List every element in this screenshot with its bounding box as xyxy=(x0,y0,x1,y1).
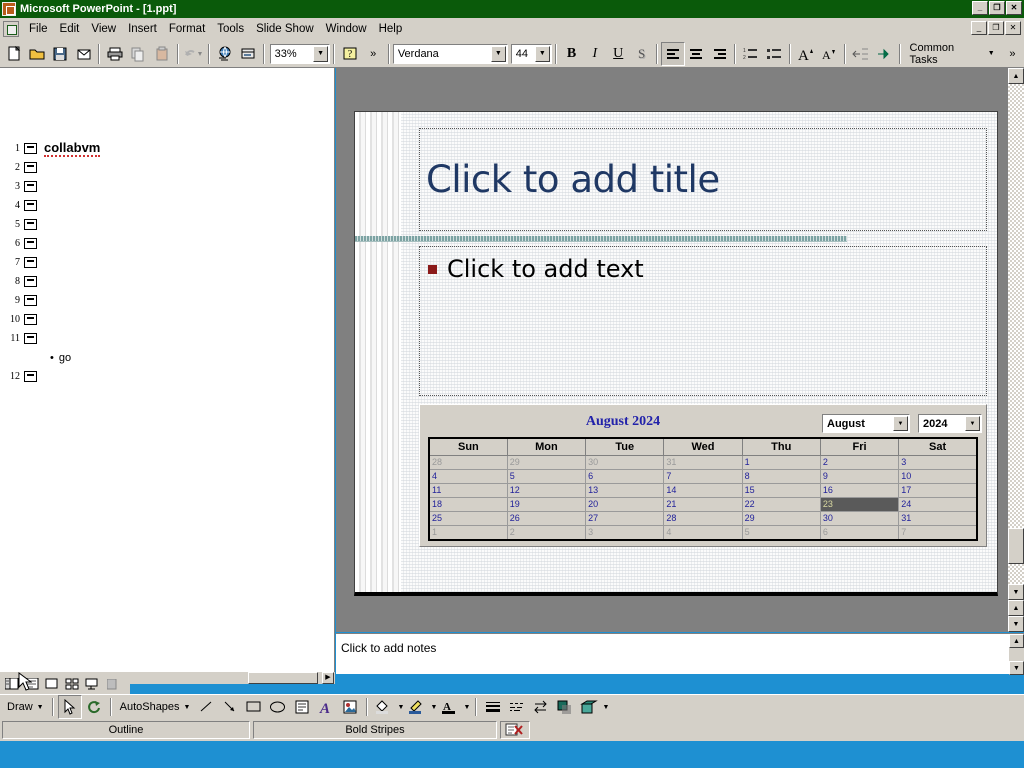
notes-vertical-scrollbar[interactable]: ▲ ▼ xyxy=(1009,634,1024,675)
window-controls: _ ❐ ✕ xyxy=(972,1,1022,15)
calendar-day-cell[interactable]: 24 xyxy=(899,497,977,511)
day-header-mon: Mon xyxy=(507,438,585,455)
slide-thumbnail-icon[interactable] xyxy=(24,219,37,230)
calendar-week-row: 18192021222324 xyxy=(429,497,977,511)
slide-number: 8 xyxy=(0,276,20,287)
promote-icon[interactable] xyxy=(849,42,872,66)
arrow-style-icon[interactable] xyxy=(529,695,553,719)
toolbar-separator xyxy=(899,44,901,64)
outline-slide-row[interactable]: 7 xyxy=(0,254,37,271)
outline-slide-row[interactable]: 5 xyxy=(0,216,37,233)
calendar-day-cell[interactable]: 18 xyxy=(429,497,507,511)
arrow-icon[interactable] xyxy=(218,695,242,719)
toolbar-separator xyxy=(110,698,112,716)
common-tasks-label: Common Tasks xyxy=(910,42,983,66)
line-style-icon[interactable] xyxy=(481,695,505,719)
close-button[interactable]: ✕ xyxy=(1006,1,1022,15)
slide-view-button[interactable] xyxy=(42,676,61,693)
slide-show-view-button[interactable] xyxy=(82,676,101,693)
notes-pane[interactable]: Click to add notes ▲ ▼ xyxy=(336,633,1024,674)
document-window-controls: _ ❐ ✕ xyxy=(971,21,1021,35)
slide-thumbnail-icon[interactable] xyxy=(24,314,37,325)
email-icon[interactable] xyxy=(72,42,95,66)
slide-vertical-scrollbar[interactable]: ▲ ▼ ▲ ▼ xyxy=(1008,68,1024,632)
calendar-day-cell[interactable]: 3 xyxy=(899,455,977,469)
window-title: Microsoft PowerPoint - [1.ppt] xyxy=(20,3,176,15)
3d-icon[interactable] xyxy=(577,695,601,719)
slide-number: 9 xyxy=(0,295,20,306)
oval-icon[interactable] xyxy=(266,695,290,719)
calendar-week-row: 25262728293031 xyxy=(429,511,977,525)
chevron-down-icon[interactable]: ▼ xyxy=(601,695,610,719)
slide-number: 7 xyxy=(0,257,20,268)
chevron-down-icon[interactable]: ▼ xyxy=(313,46,328,62)
calendar-day-cell-selected[interactable]: 23 xyxy=(820,497,898,511)
line-color-icon[interactable] xyxy=(405,695,429,719)
calendar-day-cell[interactable]: 28 xyxy=(429,455,507,469)
calendar-month-value: August xyxy=(827,418,865,430)
toolbar-separator xyxy=(263,44,265,64)
title-bar: Microsoft PowerPoint - [1.ppt] _ ❐ ✕ xyxy=(0,0,1024,18)
paste-icon[interactable] xyxy=(150,42,173,66)
slide-thumbnail-icon[interactable] xyxy=(24,143,37,154)
menu-slide-show[interactable]: Slide Show xyxy=(250,21,320,37)
previous-slide-button[interactable]: ▲ xyxy=(1008,600,1024,616)
calendar-header-row: Sun Mon Tue Wed Thu Fri Sat xyxy=(429,438,977,455)
calendar-day-cell[interactable]: 31 xyxy=(664,455,742,469)
calendar-day-cell[interactable]: 13 xyxy=(586,483,664,497)
menu-help[interactable]: Help xyxy=(373,21,409,37)
outline-slide-row[interactable]: 10 xyxy=(0,311,37,328)
notes-placeholder-text: Click to add notes xyxy=(341,641,436,655)
slide-thumbnail-icon[interactable] xyxy=(24,333,37,344)
calendar-day-cell[interactable]: 1 xyxy=(429,525,507,540)
calendar-day-cell[interactable]: 27 xyxy=(586,511,664,525)
scroll-up-button[interactable]: ▲ xyxy=(1009,634,1024,648)
powerpoint-window: Microsoft PowerPoint - [1.ppt] _ ❐ ✕ Fil… xyxy=(0,0,1024,768)
fill-color-icon[interactable] xyxy=(372,695,396,719)
wordart-icon[interactable]: A xyxy=(314,695,338,719)
free-rotate-icon[interactable] xyxy=(82,695,106,719)
align-left-icon[interactable] xyxy=(661,42,684,66)
font-name-value: Verdana xyxy=(398,48,439,60)
menu-bar: File Edit View Insert Format Tools Slide… xyxy=(0,18,1024,40)
outline-slide-row[interactable]: 4 xyxy=(0,197,37,214)
zoom-combo[interactable]: 33% ▼ xyxy=(270,44,331,64)
calendar-day-cell[interactable]: 6 xyxy=(820,525,898,540)
calendar-day-cell[interactable]: 28 xyxy=(664,511,742,525)
new-document-icon[interactable] xyxy=(2,42,25,66)
outline-slide-row[interactable]: 6 xyxy=(0,235,37,252)
design-divider-line xyxy=(355,236,847,242)
calendar-body: 2829303112345678910111213141516171819202… xyxy=(429,455,977,540)
toolbar-separator xyxy=(555,44,557,64)
scroll-up-button[interactable]: ▲ xyxy=(1008,68,1024,84)
outline-bullet-text[interactable]: go xyxy=(59,352,71,364)
chevron-down-icon[interactable]: ▼ xyxy=(462,695,471,719)
slide-number: 10 xyxy=(0,314,20,325)
zoom-value: 33% xyxy=(275,48,297,60)
menu-window[interactable]: Window xyxy=(320,21,373,37)
calendar-day-cell[interactable]: 10 xyxy=(899,469,977,483)
align-right-icon[interactable] xyxy=(708,42,731,66)
svg-text:A: A xyxy=(319,701,330,715)
toolbar-separator xyxy=(208,44,210,64)
calendar-day-cell[interactable]: 8 xyxy=(742,469,820,483)
open-folder-icon[interactable] xyxy=(25,42,48,66)
body-placeholder[interactable]: Click to add text xyxy=(419,246,987,396)
calendar-day-cell[interactable]: 20 xyxy=(586,497,664,511)
toolbar-separator xyxy=(333,44,335,64)
calendar-day-cell[interactable]: 9 xyxy=(820,469,898,483)
text-box-icon[interactable] xyxy=(290,695,314,719)
line-icon[interactable] xyxy=(194,695,218,719)
day-header-tue: Tue xyxy=(586,438,664,455)
calendar-header: August 2024 August ▼ 2024 ▼ xyxy=(428,411,978,437)
chevron-down-icon[interactable]: ▼ xyxy=(988,50,995,57)
calendar-day-cell[interactable]: 30 xyxy=(820,511,898,525)
calendar-day-cell[interactable]: 1 xyxy=(742,455,820,469)
outline-slide-row[interactable]: 9 xyxy=(0,292,37,309)
design-stripes-decoration xyxy=(355,112,401,592)
drawing-toolbar: Draw ▼ AutoShapes ▼ A xyxy=(0,694,1024,719)
calendar-grid[interactable]: Sun Mon Tue Wed Thu Fri Sat 282930311234… xyxy=(428,437,978,541)
draw-menu-button[interactable]: Draw ▼ xyxy=(3,701,48,713)
title-placeholder-text: Click to add title xyxy=(426,158,720,201)
slide-title-text[interactable]: collabvm xyxy=(44,140,100,157)
document-icon[interactable] xyxy=(3,21,19,37)
toolbar-separator xyxy=(177,44,179,64)
formatting-overflow-button[interactable]: » xyxy=(1001,42,1024,66)
mouse-cursor xyxy=(18,672,32,692)
slide-edit-area[interactable]: Click to add title Click to add text Aug… xyxy=(336,68,1008,632)
svg-text:1: 1 xyxy=(743,48,746,54)
menu-edit[interactable]: Edit xyxy=(54,21,86,37)
slide-thumbnail-icon[interactable] xyxy=(24,371,37,382)
calendar-day-cell[interactable]: 19 xyxy=(507,497,585,511)
outline-slide-row[interactable]: 2 xyxy=(0,159,37,176)
shadow-icon[interactable] xyxy=(553,695,577,719)
toolbar-separator xyxy=(98,44,100,64)
outline-slide-row[interactable]: 3 xyxy=(0,178,37,195)
common-tasks-button[interactable]: Common Tasks ▼ xyxy=(904,43,1001,65)
chevron-down-icon[interactable]: ▼ xyxy=(535,46,550,62)
outline-slide-row[interactable]: 1 collabvm xyxy=(0,140,100,157)
calendar-control[interactable]: August 2024 August ▼ 2024 ▼ Sun Mon xyxy=(419,404,987,547)
chevron-down-icon[interactable]: ▼ xyxy=(37,704,44,711)
svg-text:A: A xyxy=(822,48,831,62)
calendar-day-cell[interactable]: 30 xyxy=(586,455,664,469)
next-slide-button[interactable]: ▼ xyxy=(1008,616,1024,632)
scrollbar-thumb[interactable] xyxy=(1008,528,1024,564)
scroll-down-button[interactable]: ▼ xyxy=(1008,584,1024,600)
menu-view[interactable]: View xyxy=(85,21,122,37)
status-design-panel: Bold Stripes xyxy=(253,721,497,739)
slide-number: 12 xyxy=(0,371,20,382)
svg-text:A: A xyxy=(798,48,809,62)
status-bar: Outline Bold Stripes xyxy=(0,719,1024,741)
align-center-icon[interactable] xyxy=(685,42,708,66)
menu-format[interactable]: Format xyxy=(163,21,211,37)
title-placeholder[interactable]: Click to add title xyxy=(419,128,987,231)
body-placeholder-text: Click to add text xyxy=(447,255,644,283)
outline-bullet-item[interactable]: •go xyxy=(50,352,71,364)
clip-art-icon[interactable] xyxy=(338,695,362,719)
toolbar-separator xyxy=(475,698,477,716)
calendar-day-cell[interactable]: 7 xyxy=(899,525,977,540)
calendar-day-cell[interactable]: 31 xyxy=(899,511,977,525)
undo-icon[interactable] xyxy=(182,42,205,66)
calendar-week-row: 1234567 xyxy=(429,525,977,540)
desktop-background xyxy=(0,741,1024,768)
dash-style-icon[interactable] xyxy=(505,695,529,719)
scrollbar-thumb[interactable] xyxy=(248,672,318,684)
calendar-day-cell[interactable]: 12 xyxy=(507,483,585,497)
calendar-month-select[interactable]: August ▼ xyxy=(822,414,910,433)
calendar-week-row: 11121314151617 xyxy=(429,483,977,497)
slide-number: 11 xyxy=(0,333,20,344)
autoshapes-label: AutoShapes xyxy=(120,701,180,713)
toolbar-separator xyxy=(52,698,54,716)
calendar-day-cell[interactable]: 2 xyxy=(507,525,585,540)
day-header-fri: Fri xyxy=(820,438,898,455)
svg-text:2: 2 xyxy=(743,55,746,61)
tables-and-borders-icon[interactable] xyxy=(236,42,259,66)
status-view-panel: Outline xyxy=(2,721,250,739)
calendar-day-cell[interactable]: 2 xyxy=(820,455,898,469)
day-header-thu: Thu xyxy=(742,438,820,455)
toolbar-separator xyxy=(656,44,658,64)
scroll-right-button[interactable]: ▶ xyxy=(322,672,334,684)
bulleted-list-icon[interactable] xyxy=(763,42,786,66)
toolbar-separator xyxy=(844,44,846,64)
chevron-down-icon[interactable]: ▼ xyxy=(491,46,506,62)
rectangle-icon[interactable] xyxy=(242,695,266,719)
svg-text:?: ? xyxy=(348,49,353,60)
slide-thumbnail-icon[interactable] xyxy=(24,162,37,173)
calendar-year-select[interactable]: 2024 ▼ xyxy=(918,414,982,433)
chevron-down-icon[interactable]: ▼ xyxy=(396,695,405,719)
demote-icon[interactable] xyxy=(872,42,895,66)
calendar-year-value: 2024 xyxy=(923,418,947,430)
toolbar-separator xyxy=(388,44,390,64)
minimize-button[interactable]: _ xyxy=(972,1,988,15)
font-name-combo[interactable]: Verdana ▼ xyxy=(393,44,508,64)
doc-close-button[interactable]: ✕ xyxy=(1005,21,1021,35)
help-icon[interactable]: ? xyxy=(338,42,361,66)
body-bullet-row: Click to add text xyxy=(428,255,986,283)
slide-number: 1 xyxy=(0,143,20,154)
calendar-day-cell[interactable]: 29 xyxy=(742,511,820,525)
calendar-day-cell[interactable]: 21 xyxy=(664,497,742,511)
restore-button[interactable]: ❐ xyxy=(989,1,1005,15)
scroll-down-button[interactable]: ▼ xyxy=(1009,661,1024,675)
slide-number: 4 xyxy=(0,200,20,211)
font-size-combo[interactable]: 44 ▼ xyxy=(511,44,552,64)
calendar-day-cell[interactable]: 4 xyxy=(429,469,507,483)
decrease-font-icon[interactable]: A xyxy=(817,42,840,66)
bold-button[interactable]: B xyxy=(560,42,583,66)
slide-thumbnail-icon[interactable] xyxy=(24,238,37,249)
toolbar-separator xyxy=(789,44,791,64)
calendar-day-cell[interactable]: 7 xyxy=(664,469,742,483)
calendar-day-cell[interactable]: 4 xyxy=(664,525,742,540)
slide-number: 3 xyxy=(0,181,20,192)
day-header-sat: Sat xyxy=(899,438,977,455)
calendar-day-cell[interactable]: 5 xyxy=(742,525,820,540)
italic-button[interactable]: I xyxy=(583,42,606,66)
save-disk-icon[interactable] xyxy=(49,42,72,66)
insert-hyperlink-icon[interactable] xyxy=(213,42,236,66)
menu-insert[interactable]: Insert xyxy=(122,21,163,37)
doc-restore-button[interactable]: ❐ xyxy=(988,21,1004,35)
slide-number: 5 xyxy=(0,219,20,230)
calendar-day-cell[interactable]: 22 xyxy=(742,497,820,511)
spell-check-icon[interactable] xyxy=(500,721,530,739)
slide-number: 2 xyxy=(0,162,20,173)
slide-number: 6 xyxy=(0,238,20,249)
calendar-day-cell[interactable]: 25 xyxy=(429,511,507,525)
calendar-day-cell[interactable]: 6 xyxy=(586,469,664,483)
print-icon[interactable] xyxy=(103,42,126,66)
day-header-wed: Wed xyxy=(664,438,742,455)
scrollbar-track[interactable] xyxy=(1008,84,1024,584)
select-arrow-icon[interactable] xyxy=(58,695,82,719)
square-bullet-icon xyxy=(428,265,437,274)
slide-thumbnail-icon[interactable] xyxy=(24,257,37,268)
font-size-value: 44 xyxy=(516,48,528,60)
menu-file[interactable]: File xyxy=(23,21,54,37)
calendar-day-cell[interactable]: 3 xyxy=(586,525,664,540)
numbered-list-icon[interactable]: 12 xyxy=(739,42,762,66)
calendar-day-cell[interactable]: 5 xyxy=(507,469,585,483)
chevron-down-icon[interactable]: ▼ xyxy=(184,704,191,711)
chevron-down-icon[interactable]: ▼ xyxy=(429,695,438,719)
calendar-day-cell[interactable]: 16 xyxy=(820,483,898,497)
doc-minimize-button[interactable]: _ xyxy=(971,21,987,35)
slide-canvas[interactable]: Click to add title Click to add text Aug… xyxy=(354,111,998,596)
calendar-day-cell[interactable]: 26 xyxy=(507,511,585,525)
copy-icon[interactable] xyxy=(127,42,150,66)
calendar-day-cell[interactable]: 29 xyxy=(507,455,585,469)
chevron-down-icon[interactable]: ▼ xyxy=(965,416,980,431)
calendar-day-cell[interactable]: 14 xyxy=(664,483,742,497)
calendar-week-row: 28293031123 xyxy=(429,455,977,469)
increase-font-icon[interactable]: A xyxy=(794,42,817,66)
view-scroll-left-button[interactable] xyxy=(102,676,121,693)
slide-thumbnail-icon[interactable] xyxy=(24,200,37,211)
powerpoint-icon xyxy=(2,2,16,16)
outline-slide-row[interactable]: 12 xyxy=(0,368,37,385)
text-shadow-button[interactable]: S xyxy=(630,42,653,66)
calendar-day-cell[interactable]: 15 xyxy=(742,483,820,497)
underline-button[interactable]: U xyxy=(607,42,630,66)
calendar-day-cell[interactable]: 11 xyxy=(429,483,507,497)
slide-sorter-view-button[interactable] xyxy=(62,676,81,693)
outline-slide-row[interactable]: 8 xyxy=(0,273,37,290)
draw-label: Draw xyxy=(7,701,33,713)
calendar-day-cell[interactable]: 17 xyxy=(899,483,977,497)
outline-pane[interactable]: 1 collabvm 2 3 4 5 6 7 8 xyxy=(0,68,335,672)
font-color-icon[interactable]: A xyxy=(438,695,462,719)
slide-thumbnail-icon[interactable] xyxy=(24,276,37,287)
autoshapes-menu-button[interactable]: AutoShapes ▼ xyxy=(116,701,195,713)
toolbar-overflow-button[interactable]: » xyxy=(361,42,384,66)
chevron-down-icon[interactable]: ▼ xyxy=(893,416,908,431)
toolbar-separator xyxy=(734,44,736,64)
menu-tools[interactable]: Tools xyxy=(211,21,250,37)
standard-toolbar: 33% ▼ ? » Verdana ▼ 44 ▼ B I U S xyxy=(0,40,1024,68)
toolbar-separator xyxy=(366,698,368,716)
outline-slide-row[interactable]: 11 xyxy=(0,330,37,347)
day-header-sun: Sun xyxy=(429,438,507,455)
slide-thumbnail-icon[interactable] xyxy=(24,181,37,192)
slide-thumbnail-icon[interactable] xyxy=(24,295,37,306)
bullet-glyph: • xyxy=(50,352,54,364)
calendar-week-row: 45678910 xyxy=(429,469,977,483)
